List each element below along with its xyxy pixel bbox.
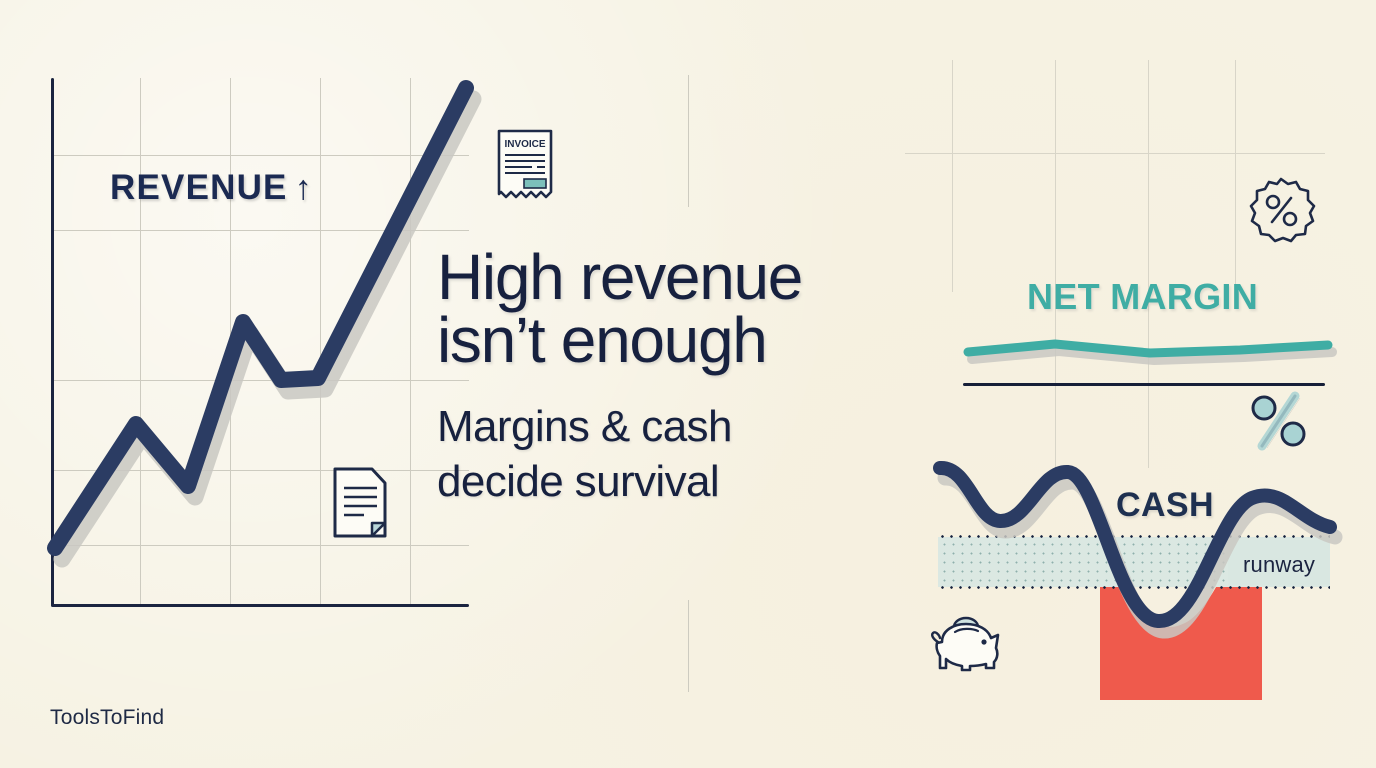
cash-label: CASH: [1116, 486, 1214, 525]
piggy-bank-icon: [928, 612, 1002, 674]
footer-brand: ToolsToFind: [50, 706, 164, 730]
poster-canvas: REVENUE↑ INVOICE High revenue isn’t enou…: [0, 0, 1376, 768]
cash-line: [0, 0, 1376, 700]
